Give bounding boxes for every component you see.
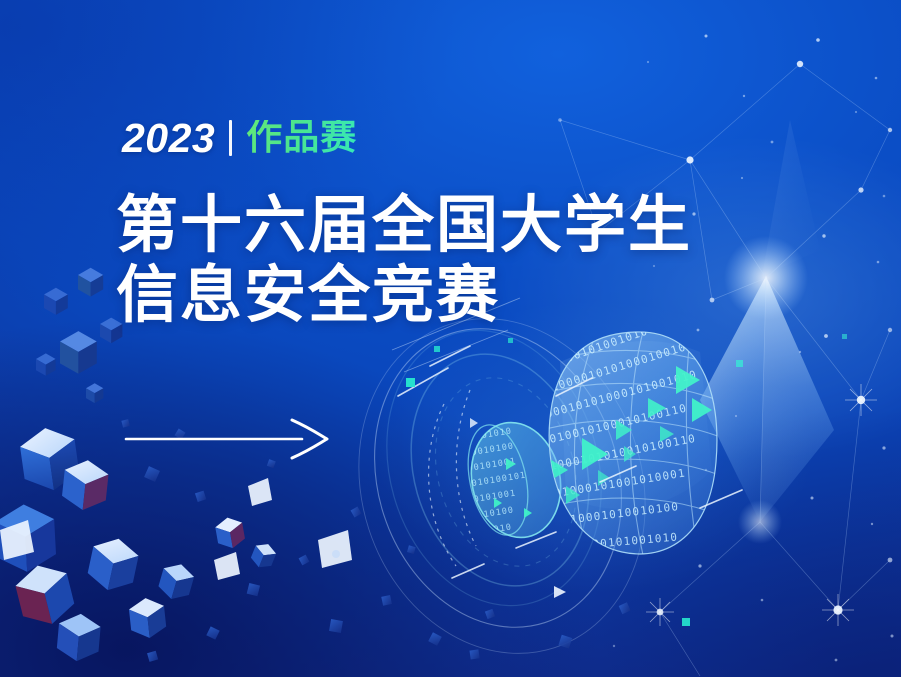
poster-content: 2023 作品赛 第十六届全国大学生 信息安全竞赛	[0, 0, 901, 677]
page-title: 第十六届全国大学生 信息安全竞赛	[116, 190, 692, 330]
long-right-arrow-icon[interactable]	[124, 418, 329, 460]
kicker-divider	[229, 120, 232, 156]
kicker-row: 2023 作品赛	[122, 112, 357, 164]
poster-canvas: 1001010 10010100 100101001 10010100101 1…	[0, 0, 901, 677]
category-label: 作品赛	[246, 120, 357, 156]
year-label: 2023	[122, 118, 215, 159]
